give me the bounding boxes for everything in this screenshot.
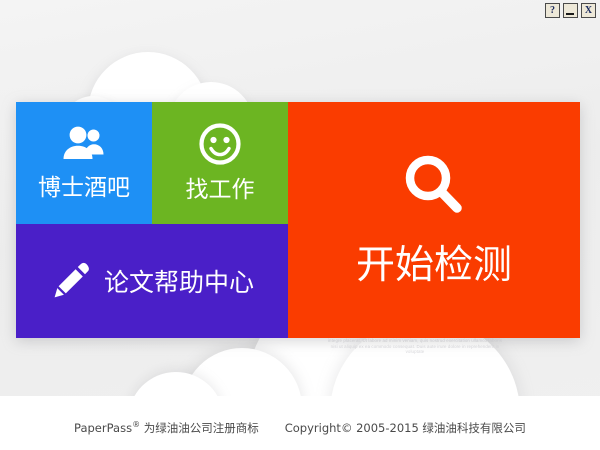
tile-start-check-label: 开始检测: [356, 234, 512, 290]
footer-trademark-rest: 为绿油油公司注册商标: [140, 421, 259, 435]
help-button[interactable]: ?: [545, 3, 560, 18]
app-window: integre placerat. Ut labore ad minim ven…: [0, 0, 600, 450]
footer-trademark-main: PaperPass: [74, 421, 132, 435]
footer-copyright: Copyright© 2005-2015 绿油油科技有限公司: [285, 421, 526, 435]
registered-mark-icon: ®: [132, 420, 140, 429]
window-controls: ? X: [545, 3, 596, 18]
background-filler-text: integre placerat. Ut labore ad minim ven…: [326, 338, 504, 355]
footer-trademark: PaperPass® 为绿油油公司注册商标: [74, 421, 259, 435]
footer: PaperPass® 为绿油油公司注册商标Copyright© 2005-201…: [0, 420, 600, 436]
footer-copyright-main: Copyright: [285, 421, 341, 435]
pencil-icon: [50, 260, 92, 302]
tile-start-check[interactable]: 开始检测: [288, 102, 580, 338]
title-bar: ? X: [0, 0, 600, 24]
smiley-face-icon: [198, 122, 242, 166]
tile-find-job[interactable]: 找工作: [152, 102, 288, 224]
people-icon: [60, 124, 108, 164]
tile-thesis-help-center-label: 论文帮助中心: [104, 263, 254, 299]
tile-thesis-help-center[interactable]: 论文帮助中心: [16, 224, 288, 338]
tile-column-left: 博士酒吧 找工作: [16, 102, 288, 338]
tile-grid: 博士酒吧 找工作: [16, 102, 580, 338]
minimize-button[interactable]: [563, 3, 578, 18]
tile-doctor-bar-label: 博士酒吧: [38, 168, 130, 202]
tile-find-job-label: 找工作: [186, 170, 255, 204]
tile-doctor-bar[interactable]: 博士酒吧: [16, 102, 152, 224]
footer-copyright-rest: 2005-2015 绿油油科技有限公司: [352, 421, 526, 435]
tile-row-top: 博士酒吧 找工作: [16, 102, 288, 224]
magnifier-icon: [398, 150, 470, 222]
copyright-mark-icon: ©: [341, 421, 353, 435]
close-button[interactable]: X: [581, 3, 596, 18]
